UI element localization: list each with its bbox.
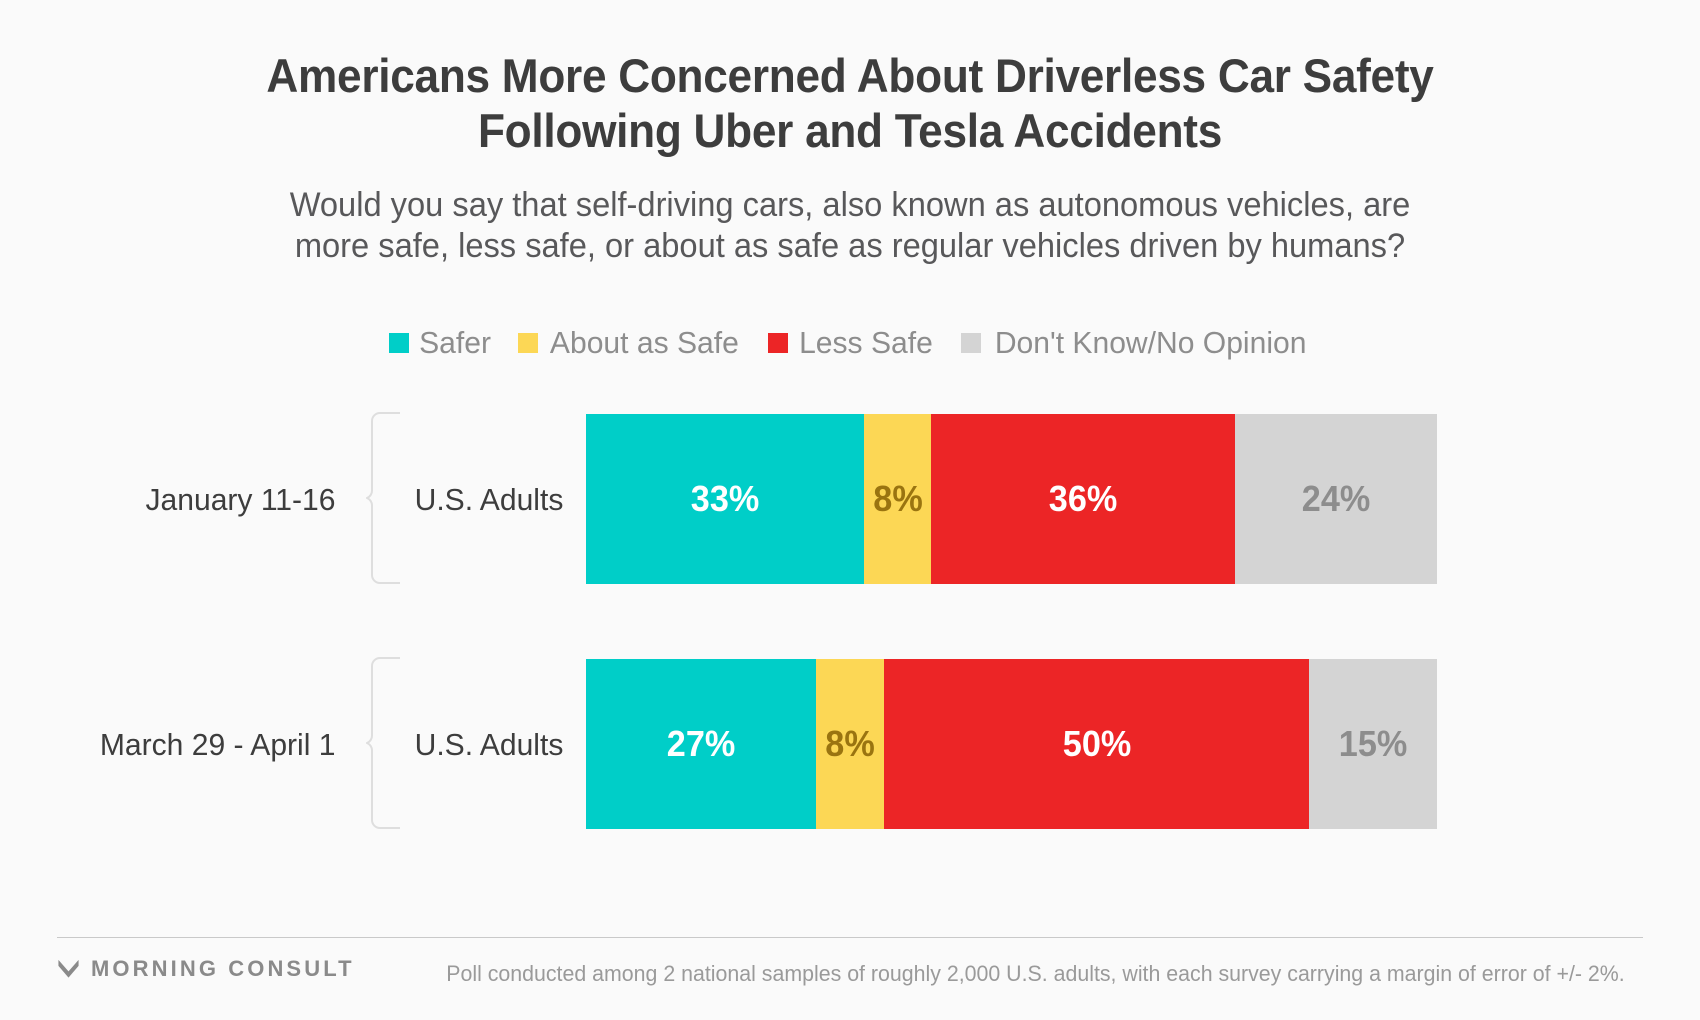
legend-swatch-icon (389, 333, 409, 353)
legend-label: Less Safe (799, 326, 933, 360)
bar-segment-value: 8% (825, 724, 874, 764)
bar-segment-value: 15% (1339, 724, 1407, 764)
bar-segment-value: 50% (1062, 724, 1130, 764)
bar-segment-0[interactable]: 33% (586, 414, 864, 584)
row-group-label: U.S. Adults (407, 482, 572, 518)
legend-label: Don't Know/No Opinion (995, 326, 1307, 360)
bar-segment-1[interactable]: 8% (864, 414, 931, 584)
row-brace (366, 412, 402, 584)
bar-segment-value: 33% (691, 479, 759, 519)
bar-segment-0[interactable]: 27% (586, 659, 816, 829)
morning-consult-chevron-icon (57, 958, 80, 981)
chart-row-1: March 29 - April 1U.S. Adults27%8%50%15% (0, 641, 1700, 846)
bar-segment-value: 27% (667, 724, 735, 764)
chart-subtitle-line-2: more safe, less safe, or about as safe a… (178, 226, 1522, 267)
row-brace (366, 657, 402, 829)
legend-item-0[interactable]: Safer (389, 326, 492, 360)
bar-segment-3[interactable]: 24% (1235, 414, 1437, 584)
chart-plot-area: January 11-16U.S. Adults33%8%36%24%March… (0, 380, 1700, 850)
brand-name: MORNING CONSULT (91, 957, 355, 981)
morning-consult-logo: MORNING CONSULT (57, 957, 355, 981)
footer-note: Poll conducted among 2 national samples … (446, 961, 1624, 987)
bar-segment-2[interactable]: 36% (931, 414, 1234, 584)
stacked-bar: 33%8%36%24% (586, 414, 1437, 584)
chart-title-line-2: Following Uber and Tesla Accidents (173, 103, 1527, 158)
chart-canvas: Americans More Concerned About Driverles… (0, 0, 1700, 1020)
chart-footer: MORNING CONSULT Poll conducted among 2 n… (57, 955, 1643, 1003)
row-group-label: U.S. Adults (407, 727, 572, 763)
legend-swatch-icon (518, 333, 538, 353)
legend-label: Safer (419, 326, 491, 360)
chart-title-line-1: Americans More Concerned About Driverles… (173, 48, 1527, 103)
bar-segment-3[interactable]: 15% (1309, 659, 1437, 829)
legend-label: About as Safe (550, 326, 739, 360)
chart-subtitle-line-1: Would you say that self-driving cars, al… (178, 185, 1522, 226)
legend-swatch-icon (768, 333, 788, 353)
bar-segment-1[interactable]: 8% (816, 659, 884, 829)
row-date-label: March 29 - April 1 (45, 727, 336, 763)
brace-icon (366, 657, 402, 829)
chart-legend: SaferAbout as SafeLess SafeDon't Know/No… (0, 326, 1700, 360)
legend-item-3[interactable]: Don't Know/No Opinion (961, 326, 1311, 360)
brace-icon (366, 412, 402, 584)
bar-segment-2[interactable]: 50% (884, 659, 1310, 829)
chart-row-0: January 11-16U.S. Adults33%8%36%24% (0, 396, 1700, 601)
chart-subtitle: Would you say that self-driving cars, al… (150, 185, 1550, 267)
chart-title: Americans More Concerned About Driverles… (130, 48, 1570, 158)
row-date-label: January 11-16 (45, 482, 336, 518)
bar-segment-value: 24% (1302, 479, 1370, 519)
bar-segment-value: 8% (873, 479, 922, 519)
legend-item-1[interactable]: About as Safe (518, 326, 742, 360)
stacked-bar: 27%8%50%15% (586, 659, 1437, 829)
legend-swatch-icon (961, 333, 981, 353)
legend-item-2[interactable]: Less Safe (768, 326, 935, 360)
bar-segment-value: 36% (1049, 479, 1117, 519)
footer-divider (57, 937, 1643, 938)
